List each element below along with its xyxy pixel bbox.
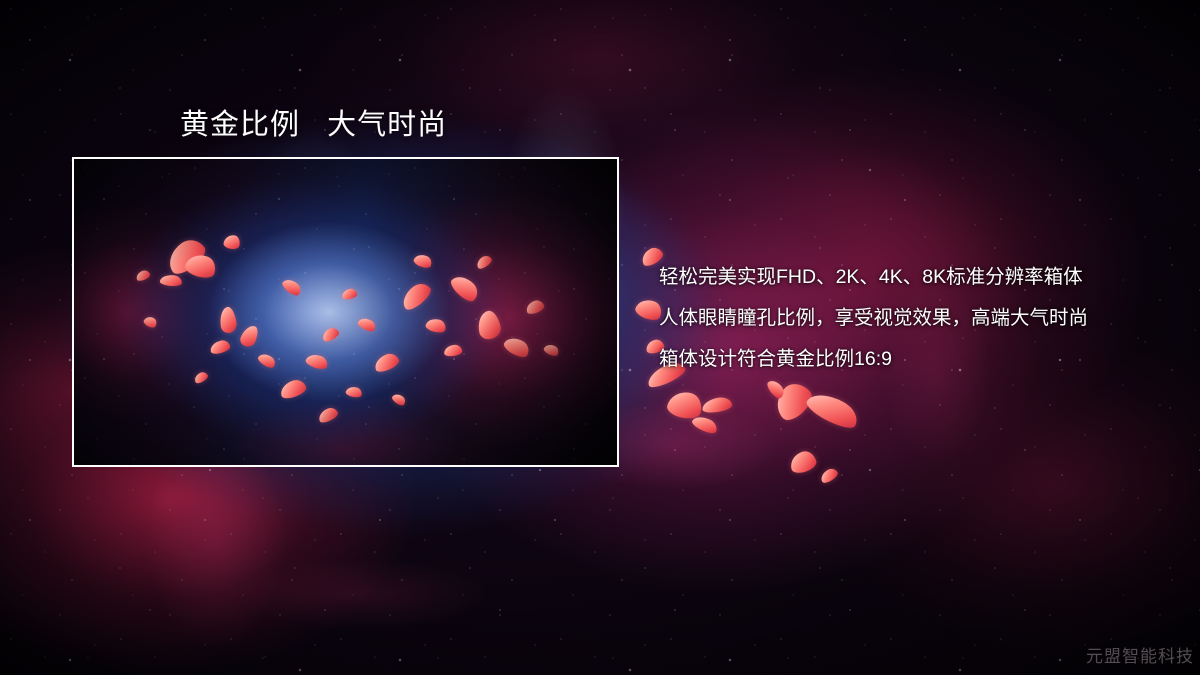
watermark-label: 元盟智能科技	[1086, 642, 1194, 667]
body-line-3: 箱体设计符合黄金比例16:9	[659, 339, 1179, 380]
body-line-1: 轻松完美实现FHD、2K、4K、8K标准分辨率箱体	[659, 257, 1179, 298]
preview-vignette	[74, 159, 617, 465]
body-text-block: 轻松完美实现FHD、2K、4K、8K标准分辨率箱体 人体眼睛瞳孔比例，享受视觉效…	[659, 257, 1179, 380]
preview-image-frame[interactable]	[72, 157, 619, 467]
body-line-2: 人体眼睛瞳孔比例，享受视觉效果，高端大气时尚	[659, 298, 1179, 339]
page-title: 黄金比例 大气时尚	[180, 101, 447, 143]
preview-image-content	[74, 159, 617, 465]
slide-canvas: 黄金比例 大气时尚 轻松完美实现FHD、2K、4K、8K标准分辨率箱体 人体眼睛…	[0, 0, 1200, 675]
